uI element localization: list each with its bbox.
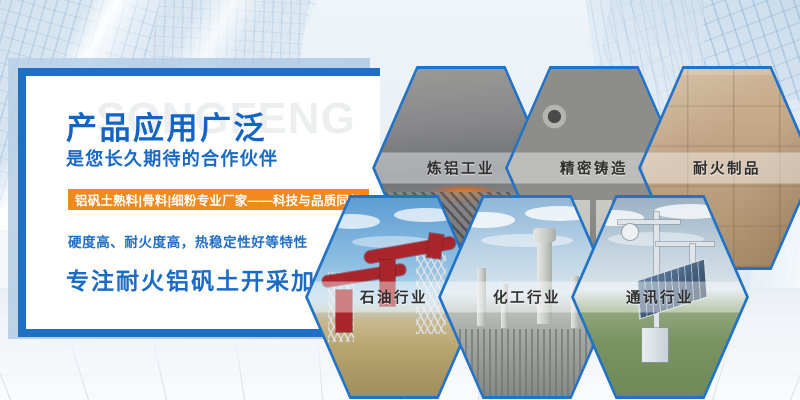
hexagon-label: 耐火制品 (641, 153, 800, 184)
industry-hexagon-grid: 炼铝工业 精密铸造 耐火制品 (0, 0, 800, 400)
promotional-banner: SONGFENG 产品应用广泛 是您长久期待的合作伙伴 铝矾土熟料|骨料|细粉专… (0, 0, 800, 400)
hexagon-label: 通讯行业 (574, 282, 746, 313)
